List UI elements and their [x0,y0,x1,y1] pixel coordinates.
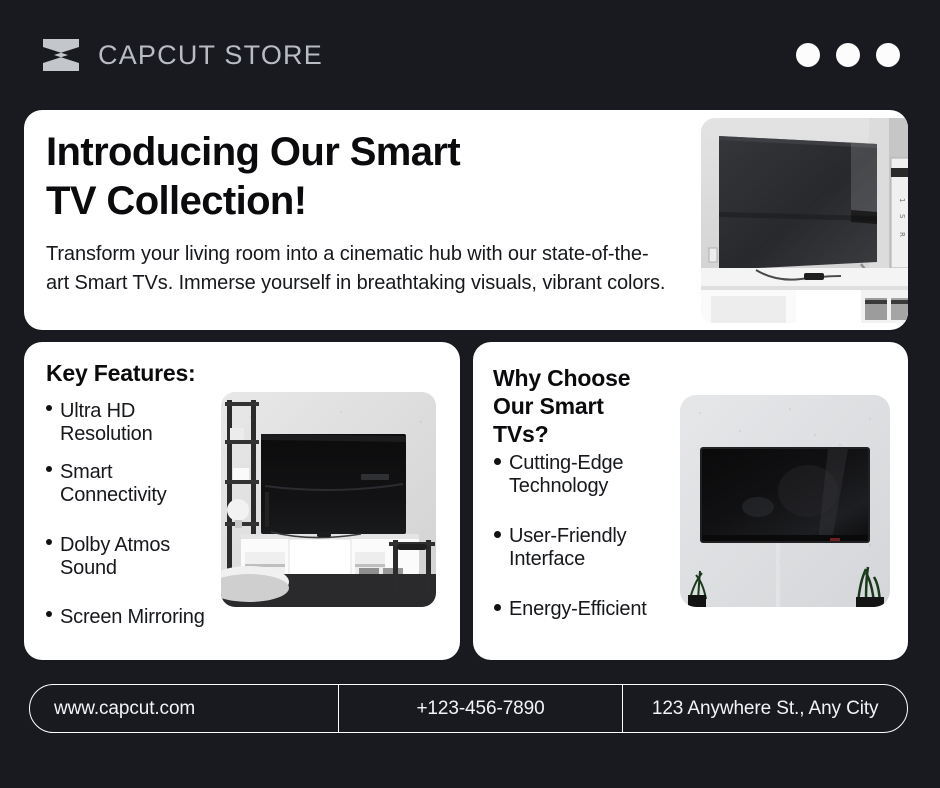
hero-photo-curved-tv: 1 S R [701,118,908,323]
features-photo-living-room-tv [221,392,436,607]
why-choose-title: Why Choose Our Smart TVs? [493,364,693,448]
brand: CAPCUT STORE [40,36,323,74]
key-features-list: Ultra HD Resolution Smart Connectivity D… [42,400,222,644]
why-choose-list: Cutting-Edge Technology User-Friendly In… [489,452,699,647]
window-dots [796,43,900,67]
list-item: User-Friendly Interface [489,525,699,572]
footer-contact-bar: www.capcut.com +123-456-7890 123 Anywher… [29,684,908,733]
list-item: Energy-Efficient [489,598,699,621]
hero-text-block: Introducing Our Smart TV Collection! Tra… [46,128,666,298]
list-item: Smart Connectivity [42,461,222,508]
footer-address: 123 Anywhere St., Any City [622,685,907,732]
list-item: Dolby Atmos Sound [42,534,222,581]
footer-website[interactable]: www.capcut.com [30,685,338,732]
brand-name: CAPCUT STORE [98,40,323,71]
dot-1-icon[interactable] [796,43,820,67]
list-item: Cutting-Edge Technology [489,452,699,499]
dot-2-icon[interactable] [836,43,860,67]
hero-body-text: Transform your living room into a cinema… [46,240,666,298]
header-bar: CAPCUT STORE [0,0,940,110]
hero-card: Introducing Our Smart TV Collection! Tra… [24,110,908,330]
poster-canvas: CAPCUT STORE Introducing Our Smart TV Co… [0,0,940,788]
key-features-card: Key Features: Ultra HD Resolution Smart … [24,342,460,660]
list-item: Ultra HD Resolution [42,400,222,447]
why-photo-wall-mounted-tv [680,395,890,607]
why-choose-card: Why Choose Our Smart TVs? Cutting-Edge T… [473,342,908,660]
list-item: Screen Mirroring [42,606,222,629]
key-features-title: Key Features: [46,360,196,387]
capcut-hourglass-logo-icon [40,36,82,74]
footer-phone[interactable]: +123-456-7890 [338,685,623,732]
svg-text:R: R [898,232,906,237]
svg-text:1: 1 [898,198,906,202]
svg-text:S: S [898,214,906,219]
hero-title: Introducing Our Smart TV Collection! [46,128,666,226]
dot-3-icon[interactable] [876,43,900,67]
